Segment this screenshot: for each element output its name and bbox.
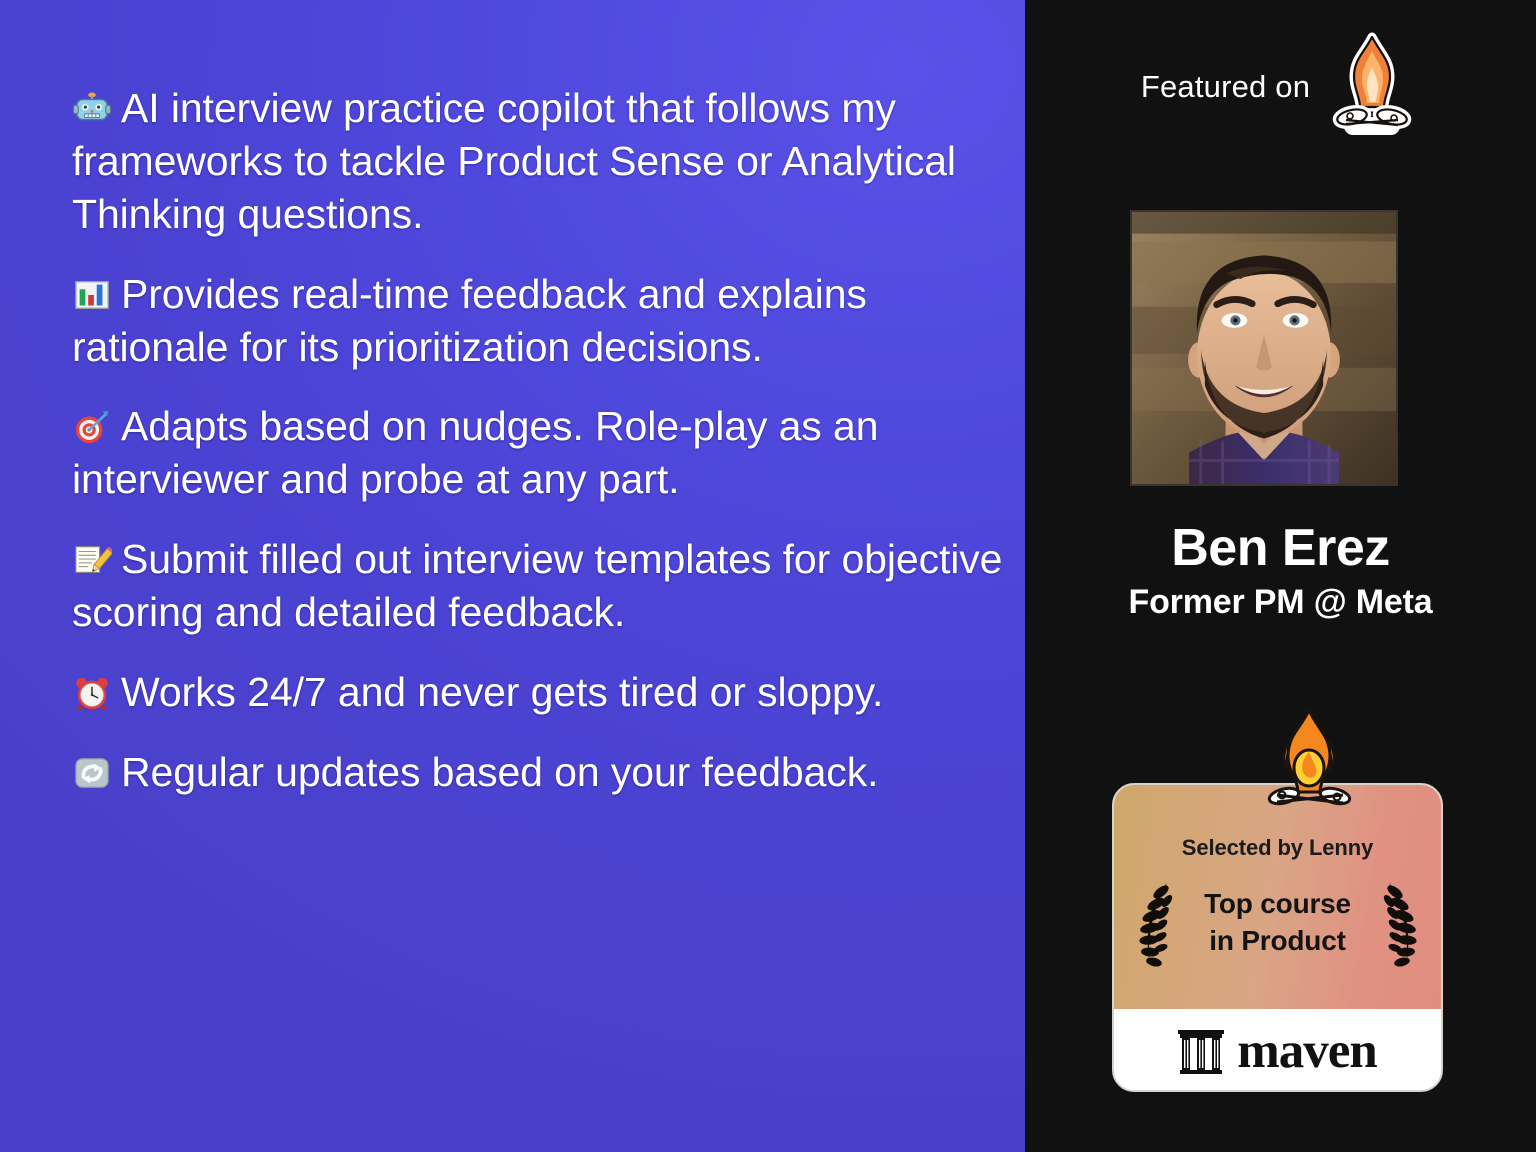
refresh-icon	[72, 754, 112, 792]
maven-award-badge: Selected by Lenny	[1112, 783, 1443, 1092]
feature-bullet-text: Provides real-time feedback and explains…	[72, 271, 867, 370]
badge-award-line2: in Product	[1209, 925, 1345, 956]
bar-chart-icon	[72, 276, 112, 314]
left-feature-panel: AI interview practice copilot that follo…	[0, 0, 1025, 1152]
feature-bullet-text: AI interview practice copilot that follo…	[72, 85, 956, 237]
laurel-left-icon	[1133, 877, 1177, 969]
dart-target-icon	[72, 408, 112, 446]
badge-bottom-section: maven	[1114, 1009, 1441, 1092]
person-name: Ben Erez	[1025, 518, 1536, 578]
feature-bullet-text: Works 24/7 and never gets tired or slopp…	[121, 669, 883, 715]
featured-on-row: Featured on	[1025, 22, 1536, 152]
slide-canvas: AI interview practice copilot that follo…	[0, 0, 1536, 1152]
badge-award-row: Top course in Product	[1114, 877, 1441, 969]
avatar-headshot	[1130, 210, 1398, 486]
memo-pencil-icon	[72, 541, 112, 579]
badge-selected-by-label: Selected by Lenny	[1114, 835, 1441, 861]
alarm-clock-icon	[72, 674, 112, 712]
badge-award-line1: Top course	[1204, 888, 1351, 919]
feature-bullet: AI interview practice copilot that follo…	[72, 82, 1003, 241]
featured-on-label: Featured on	[1141, 69, 1310, 105]
right-credibility-panel: Featured on	[1025, 0, 1536, 1152]
badge-award-text: Top course in Product	[1183, 886, 1373, 960]
feature-bullet-text: Submit filled out interview templates fo…	[72, 536, 1002, 635]
feature-bullet: Adapts based on nudges. Role-play as an …	[72, 400, 1003, 506]
feature-bullet-text: Adapts based on nudges. Role-play as an …	[72, 403, 878, 502]
feature-bullet-list: AI interview practice copilot that follo…	[72, 82, 1003, 799]
feature-bullet-text: Regular updates based on your feedback.	[121, 749, 878, 795]
maven-columns-logo	[1178, 1028, 1224, 1076]
badge-top-section: Selected by Lenny	[1114, 785, 1441, 1009]
feature-bullet: Submit filled out interview templates fo…	[72, 533, 1003, 639]
maven-wordmark: maven	[1237, 1026, 1376, 1077]
feature-bullet: Provides real-time feedback and explains…	[72, 268, 1003, 374]
robot-icon	[72, 90, 112, 128]
badge-campfire-icon	[1257, 706, 1361, 816]
person-title: Former PM @ Meta	[1025, 583, 1536, 622]
feature-bullet: Regular updates based on your feedback.	[72, 746, 1003, 799]
laurel-right-icon	[1379, 877, 1423, 969]
feature-bullet: Works 24/7 and never gets tired or slopp…	[72, 666, 1003, 719]
lennys-newsletter-campfire-logo	[1324, 29, 1420, 145]
